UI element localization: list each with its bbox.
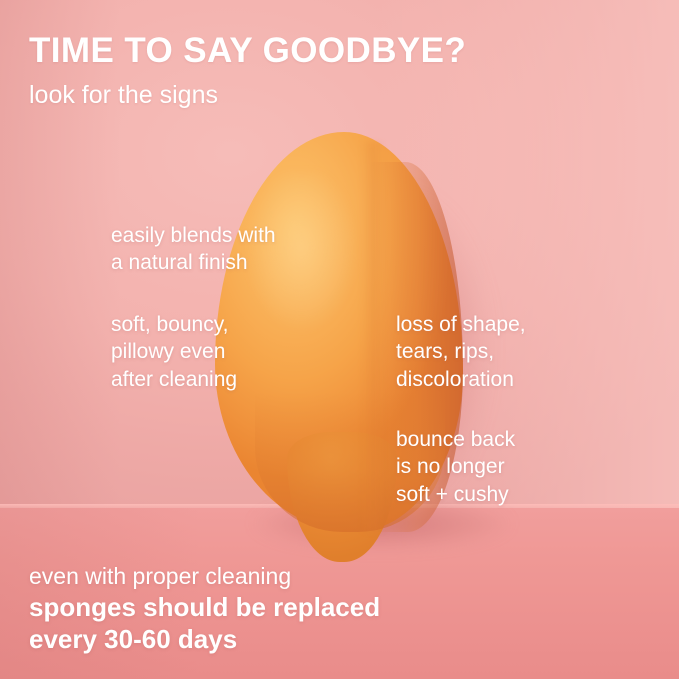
page-title: TIME TO SAY GOODBYE? bbox=[29, 32, 466, 70]
infographic-canvas: TIME TO SAY GOODBYE? look for the signs … bbox=[0, 0, 679, 679]
note-bounce-back: bounce back is no longer soft + cushy bbox=[396, 426, 515, 508]
wall-left-shading bbox=[0, 0, 120, 510]
footer-line-1: even with proper cleaning bbox=[29, 562, 380, 591]
footer-line-2: sponges should be replaced bbox=[29, 591, 380, 624]
footer-message: even with proper cleaning sponges should… bbox=[29, 562, 380, 656]
note-easily-blends: easily blends with a natural finish bbox=[111, 222, 276, 277]
note-loss-of-shape: loss of shape, tears, rips, discoloratio… bbox=[396, 311, 526, 393]
page-subtitle: look for the signs bbox=[29, 80, 218, 110]
footer-line-3: every 30-60 days bbox=[29, 623, 380, 656]
note-soft-bouncy: soft, bouncy, pillowy even after cleanin… bbox=[111, 311, 237, 393]
sponge-center-crease bbox=[361, 142, 385, 532]
